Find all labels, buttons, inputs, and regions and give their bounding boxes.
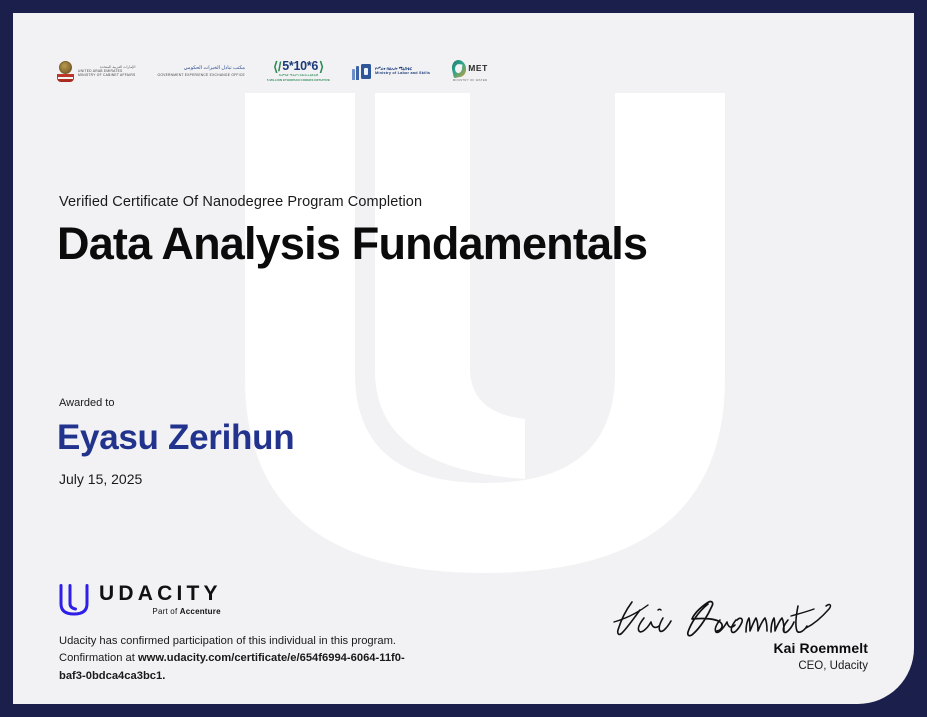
certificate-card: الإمارات العربية المتحدة UNITED ARAB EMI…: [13, 13, 914, 704]
header-logo-strip: الإمارات العربية المتحدة UNITED ARAB EMI…: [57, 46, 488, 96]
logo-five-million-coders: ⟨/ 5*10*6 ⟩ የአምስት ሚሊዮን ኮደርስ ኢኒሼቲቭ 5 MILL…: [267, 46, 330, 96]
coders-bracket-left: ⟨/: [273, 60, 281, 73]
signer-name: Kai Roemmelt: [608, 640, 868, 656]
confirmation-line-1: Udacity has confirmed participation of t…: [59, 635, 348, 647]
recipient-name: Eyasu Zerihun: [57, 418, 294, 458]
signature-block: Kai Roemmelt CEO, Udacity: [608, 596, 868, 672]
logo-mols-english-line: Ministry of Labor and Skills: [375, 71, 430, 76]
awarded-to-label: Awarded to: [59, 397, 114, 409]
logo-geeo-arabic-line: مكتب تبادل الخبرات الحكومي: [184, 65, 245, 71]
logo-government-experience-exchange-office: مكتب تبادل الخبرات الحكومي GOVERNMENT EX…: [158, 46, 245, 96]
logo-met-ministry: MET MINISTRY OF WATER: [452, 46, 488, 96]
logo-coders-english-line: 5 MILLION ETHIOPIAN CODERS INITIATIVE: [267, 79, 330, 83]
uae-emblem-icon: [57, 60, 74, 82]
coders-bracket-right: ⟩: [319, 60, 324, 73]
ministry-building-icon: [352, 63, 371, 80]
code-bracket-icon: ⟨/ 5*10*6 ⟩: [273, 60, 324, 73]
signer-role: CEO, Udacity: [608, 660, 868, 672]
met-droplet-icon: [451, 59, 468, 79]
udacity-tagline: Part of Accenture: [99, 607, 221, 616]
award-date: July 15, 2025: [59, 471, 142, 487]
coders-digits: 5*10*6: [282, 60, 318, 73]
logo-uae-ministry-of-cabinet-affairs: الإمارات العربية المتحدة UNITED ARAB EMI…: [57, 46, 136, 96]
certificate-subtitle: Verified Certificate Of Nanodegree Progr…: [59, 194, 422, 210]
confirmation-text: Udacity has confirmed participation of t…: [59, 633, 419, 685]
udacity-brand-lockup: UDACITY Part of Accenture: [59, 583, 222, 616]
logo-coders-amharic-line: የአምስት ሚሊዮን ኮደርስ ኢኒሼቲቭ: [279, 74, 318, 78]
logo-uae-english-line-2: MINISTRY OF CABINET AFFAIRS: [78, 73, 136, 77]
met-wordmark: MET: [468, 64, 488, 73]
logo-geeo-english-line: GOVERNMENT EXPERIENCE EXCHANGE OFFICE: [158, 73, 245, 77]
handwritten-signature-icon: [608, 596, 868, 642]
certificate-title: Data Analysis Fundamentals: [57, 218, 647, 270]
logo-ministry-of-labor-and-skills: የሥራና ክህሎት ሚኒስቴር Ministry of Labor and Sk…: [352, 46, 430, 96]
logo-met-english-line: MINISTRY OF WATER: [453, 78, 488, 82]
udacity-wordmark: UDACITY: [99, 583, 222, 605]
udacity-u-logo-icon: [59, 584, 89, 616]
geeo-wordmark-icon: مكتب تبادل الخبرات الحكومي GOVERNMENT EX…: [158, 65, 245, 77]
certificate-frame: الإمارات العربية المتحدة UNITED ARAB EMI…: [0, 0, 927, 717]
